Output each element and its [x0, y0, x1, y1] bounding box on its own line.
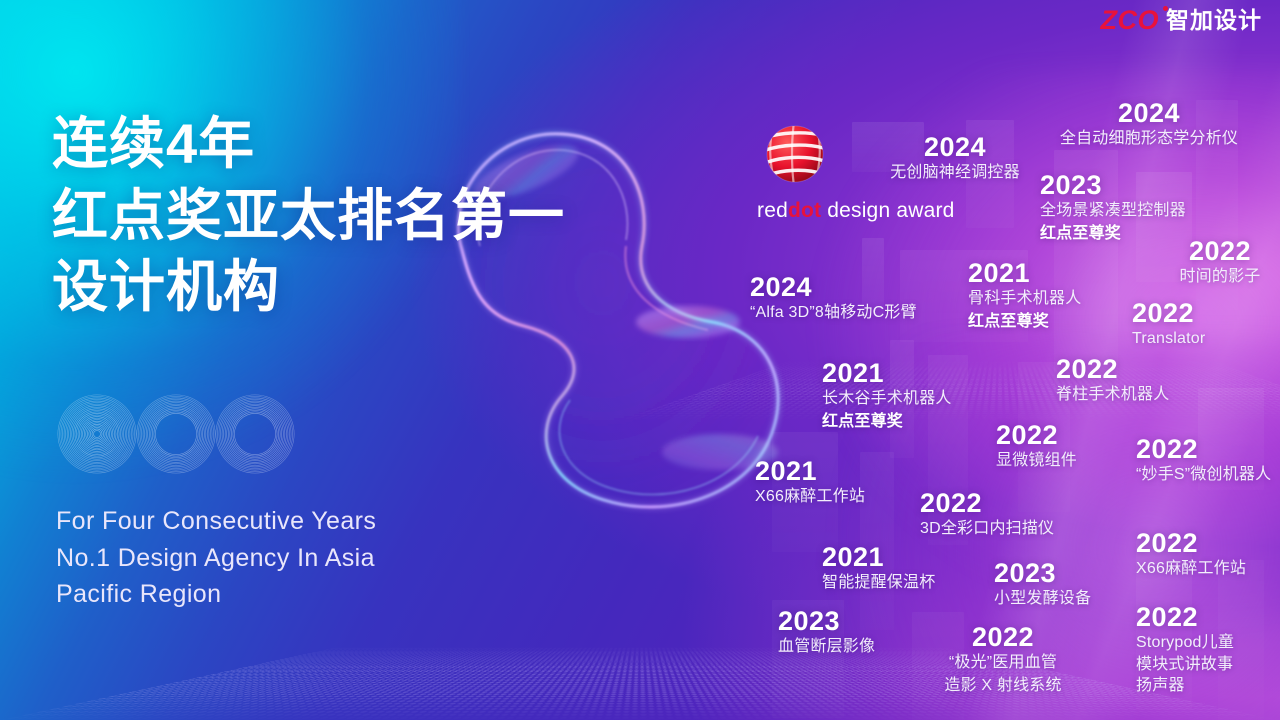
subtitle-line-2: No.1 Design Agency In Asia	[56, 540, 376, 577]
headline-line-1: 连续4年	[52, 108, 752, 180]
reddot-word-designaward: design award	[821, 199, 954, 222]
page-title: 连续4年 红点奖亚太排名第一 设计机构	[52, 108, 752, 323]
headline-line-2: 红点奖亚太排名第一	[52, 180, 752, 252]
award-item[interactable]: 2022 Translator	[1132, 298, 1262, 351]
award-name: X66麻醉工作站	[755, 486, 905, 509]
logo-company-name: 智加设计	[1166, 9, 1262, 32]
award-name: “Alfa 3D”8轴移动C形臂	[750, 302, 980, 325]
award-item[interactable]: 2022 3D全彩口内扫描仪	[920, 488, 1080, 541]
award-year: 2021	[822, 542, 972, 572]
award-name: Storypod儿童 模块式讲故事 扬声器	[1136, 632, 1280, 697]
award-name: 显微镜组件	[996, 450, 1126, 473]
brand-logo[interactable]: ZCO 智加设计	[1101, 7, 1263, 34]
award-year: 2022	[1056, 354, 1226, 384]
award-item[interactable]: 2022 “妙手S”微创机器人	[1136, 434, 1280, 487]
award-name: 骨科手术机器人	[968, 288, 1138, 311]
award-item[interactable]: 2022 X66麻醉工作站	[1136, 528, 1280, 581]
award-year: 2024	[860, 132, 1050, 162]
award-name: X66麻醉工作站	[1136, 558, 1280, 581]
award-year: 2023	[778, 606, 918, 636]
award-year: 2022	[1136, 602, 1280, 632]
award-year: 2022	[920, 488, 1080, 518]
award-name: 长木谷手术机器人	[822, 388, 1002, 411]
award-year: 2023	[994, 558, 1134, 588]
reddot-word-red: red	[757, 199, 788, 222]
award-item[interactable]: 2022 脊柱手术机器人	[1056, 354, 1226, 407]
award-name: 无创脑神经调控器	[860, 162, 1050, 185]
award-year: 2022	[996, 420, 1126, 450]
award-item[interactable]: 2023 血管断层影像	[778, 606, 918, 659]
award-year: 2022	[918, 622, 1088, 652]
page-subtitle: For Four Consecutive Years No.1 Design A…	[56, 503, 376, 613]
award-item[interactable]: 2022 “极光”医用血管 造影 X 射线系统	[918, 622, 1088, 698]
award-year: 2021	[755, 456, 905, 486]
subtitle-line-1: For Four Consecutive Years	[56, 503, 376, 540]
award-item[interactable]: 2024 “Alfa 3D”8轴移动C形臂	[750, 272, 980, 325]
award-name: “极光”医用血管 造影 X 射线系统	[918, 652, 1088, 697]
award-year: 2022	[1132, 298, 1262, 328]
award-item[interactable]: 2024 无创脑神经调控器	[860, 132, 1050, 185]
award-item[interactable]: 2021 骨科手术机器人 红点至尊奖	[968, 258, 1138, 334]
award-honor: 红点至尊奖	[968, 311, 1138, 334]
logo-mark-text: ZCO	[1101, 5, 1160, 35]
award-name: Translator	[1132, 328, 1262, 351]
award-year: 2022	[1136, 528, 1280, 558]
award-year: 2024	[750, 272, 980, 302]
award-name: 全场景紧凑型控制器	[1040, 200, 1270, 223]
red-dot-sphere-icon	[764, 123, 826, 185]
award-item[interactable]: 2021 X66麻醉工作站	[755, 456, 905, 509]
award-item[interactable]: 2021 智能提醒保温杯	[822, 542, 972, 595]
award-year: 2022	[1136, 434, 1280, 464]
award-item[interactable]: 2022 显微镜组件	[996, 420, 1126, 473]
slide-canvas: ZCO 智加设计 连续4年 红点奖亚太排名第一 设计机构 For Four Co…	[0, 0, 1280, 720]
award-name: 脊柱手术机器人	[1056, 384, 1226, 407]
three-rings-emblem-icon	[56, 393, 296, 475]
logo-degree-dot-icon	[1163, 6, 1168, 11]
award-name: 时间的影子	[1162, 266, 1278, 289]
headline-line-3: 设计机构	[52, 251, 752, 323]
award-name: 小型发酵设备	[994, 588, 1134, 611]
award-year: 2023	[1040, 170, 1270, 200]
award-year: 2024	[1026, 98, 1272, 128]
red-dot-award-wordmark: reddot design award	[757, 199, 957, 223]
award-item[interactable]: 2022 时间的影子	[1162, 236, 1278, 289]
award-item[interactable]: 2021 长木谷手术机器人 红点至尊奖	[822, 358, 1002, 434]
reddot-word-dot: dot	[788, 199, 821, 222]
logo-mark: ZCO	[1101, 7, 1160, 34]
subtitle-line-3: Pacific Region	[56, 576, 376, 613]
award-item[interactable]: 2024 全自动细胞形态学分析仪	[1026, 98, 1272, 151]
award-name: 智能提醒保温杯	[822, 572, 972, 595]
award-name: 全自动细胞形态学分析仪	[1026, 128, 1272, 151]
award-name: 3D全彩口内扫描仪	[920, 518, 1080, 541]
award-item[interactable]: 2023 全场景紧凑型控制器 红点至尊奖	[1040, 170, 1270, 246]
award-year: 2021	[968, 258, 1138, 288]
award-item[interactable]: 2023 小型发酵设备	[994, 558, 1134, 611]
award-year: 2021	[822, 358, 1002, 388]
award-year: 2022	[1162, 236, 1278, 266]
award-name: “妙手S”微创机器人	[1136, 464, 1280, 487]
award-item[interactable]: 2022 Storypod儿童 模块式讲故事 扬声器	[1136, 602, 1280, 697]
award-honor: 红点至尊奖	[822, 411, 1002, 434]
award-name: 血管断层影像	[778, 636, 918, 659]
